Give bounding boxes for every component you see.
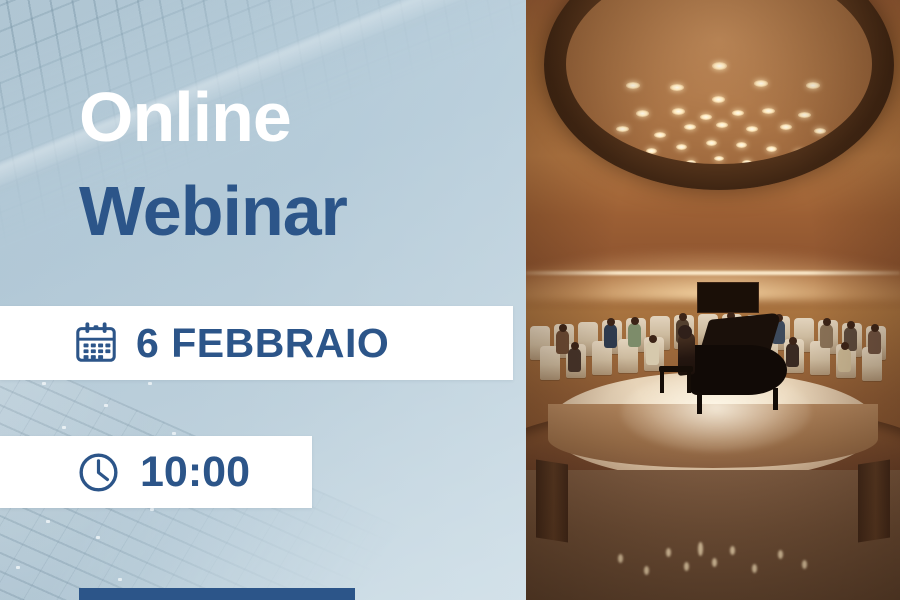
headline-line-webinar: Webinar xyxy=(79,176,347,246)
headline-block: Online Webinar xyxy=(79,82,347,246)
cta-bar[interactable] xyxy=(79,588,355,600)
date-badge: 6 FEBBRAIO xyxy=(0,306,513,380)
webinar-promo-poster: Online Webinar 6 FEBBRAI xyxy=(0,0,900,600)
hall-pillar-right xyxy=(858,459,890,542)
pianist-head xyxy=(678,325,692,339)
headline-line-online: Online xyxy=(79,82,347,152)
clock-icon xyxy=(76,450,121,495)
concert-hall-photo-panel xyxy=(526,0,900,600)
piano-leg xyxy=(697,392,702,414)
hall-pillar-left xyxy=(536,459,568,542)
time-value: 10:00 xyxy=(140,448,250,497)
bench-leg xyxy=(687,371,691,393)
piano-leg xyxy=(773,388,778,410)
cove-lighting-strip xyxy=(526,271,900,275)
bench-leg xyxy=(660,371,664,393)
time-badge: 10:00 xyxy=(0,436,312,508)
date-value: 6 FEBBRAIO xyxy=(136,320,389,367)
calendar-icon xyxy=(73,320,119,366)
foreground-floor xyxy=(526,470,900,600)
